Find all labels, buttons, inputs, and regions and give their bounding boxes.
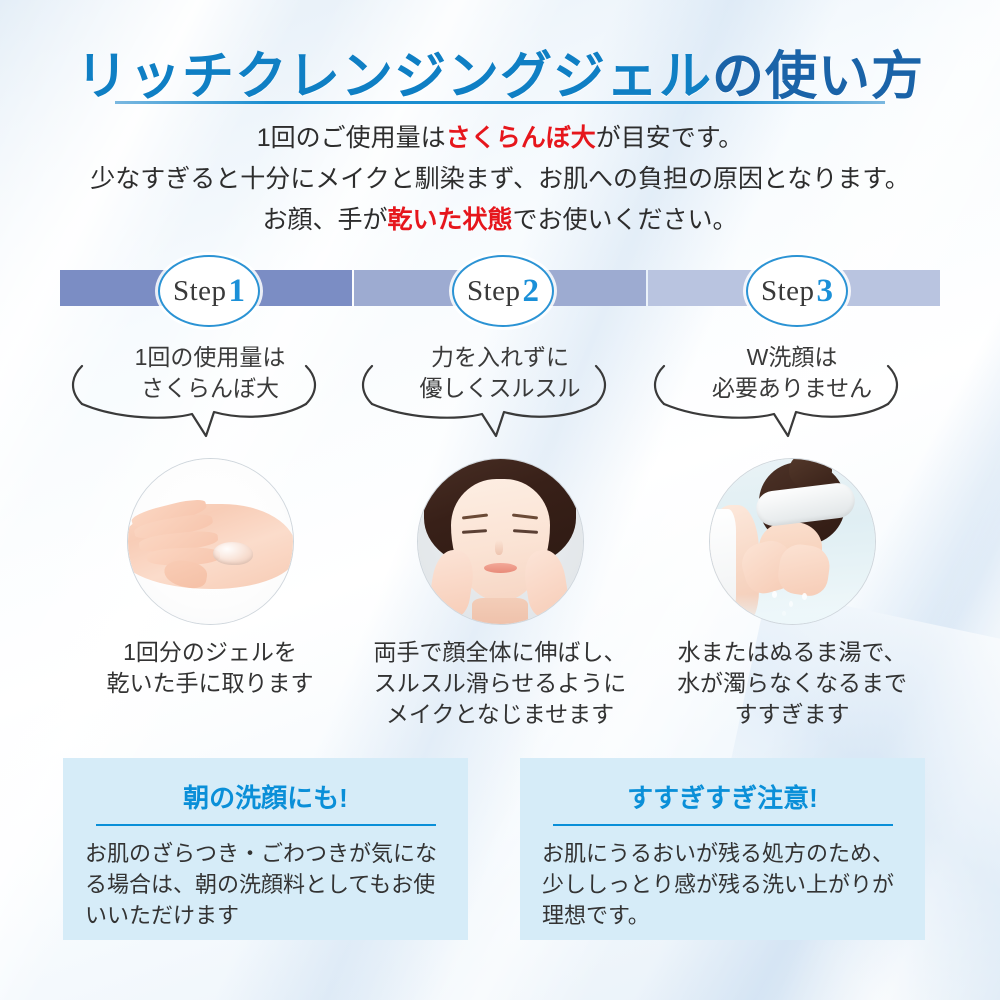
step-badge-2: Step2: [452, 255, 554, 327]
step-2-caption-line-3: メイクとなじませます: [340, 699, 660, 730]
info-box-2-divider: [553, 824, 893, 826]
step-badge-3-word: Step: [761, 275, 815, 308]
step-2-caption-line-2: スルスル滑らせるように: [340, 668, 660, 699]
step-1-bubble-line-1: 1回の使用量は: [60, 342, 360, 373]
step-1-speech-bubble: 1回の使用量は さくらんぼ大: [60, 336, 360, 444]
step-2-bubble-line-2: 優しくスルスル: [350, 373, 650, 404]
woman-rinsing-face-photo: [709, 458, 876, 625]
page-title-tail: の使い方: [712, 49, 924, 106]
step-1-caption-line-2: 乾いた手に取ります: [50, 668, 370, 699]
step-badge-3-number: 3: [817, 273, 834, 310]
info-box-2-heading: すすぎすぎ注意!: [520, 778, 925, 815]
lead-line-1-b: が目安です。: [596, 124, 744, 152]
info-box-1-body: お肌のざらつき・ごわつきが気になる場合は、朝の洗顔料としてもお使いいただけます: [85, 838, 446, 931]
step-badge-3: Step3: [746, 255, 848, 327]
info-box-2-body: お肌にうるおいが残る処方のため、少ししっとり感が残る洗い上がりが理想です。: [542, 838, 903, 931]
step-1-caption-line-1: 1回分のジェルを: [50, 637, 370, 668]
step-column-1: 1回の使用量は さくらんぼ大 1回分のジェルを 乾いた手に取ります: [50, 336, 370, 699]
step-2-speech-bubble: 力を入れずに 優しくスルスル: [350, 336, 650, 444]
lead-line-1: 1回のご使用量はさくらんぼ大が目安です。: [0, 118, 1000, 159]
step-badge-1-number: 1: [229, 273, 246, 310]
step-badge-1-word: Step: [173, 275, 227, 308]
step-badge-1: Step1: [158, 255, 260, 327]
page-title-main: リッチクレンジングジェル: [76, 49, 712, 106]
info-box-1-divider: [96, 824, 436, 826]
lead-line-1-highlight: さくらんぼ大: [446, 124, 596, 152]
step-badge-2-word: Step: [467, 275, 521, 308]
step-3-bubble-text: W洗顔は 必要ありません: [642, 342, 942, 404]
info-box-rinse-caution: すすぎすぎ注意! お肌にうるおいが残る処方のため、少ししっとり感が残る洗い上がり…: [520, 758, 925, 940]
step-1-caption: 1回分のジェルを 乾いた手に取ります: [50, 637, 370, 699]
step-3-speech-bubble: W洗顔は 必要ありません: [642, 336, 942, 444]
info-box-1-heading: 朝の洗顔にも!: [63, 778, 468, 815]
lead-line-3-highlight: 乾いた状態: [387, 206, 512, 234]
step-3-bubble-line-1: W洗顔は: [642, 342, 942, 373]
lead-paragraph: 1回のご使用量はさくらんぼ大が目安です。 少なすぎると十分にメイクと馴染まず、お…: [0, 118, 1000, 241]
step-3-caption-line-1: 水またはぬるま湯で、: [632, 637, 952, 668]
lead-line-1-a: 1回のご使用量は: [257, 124, 446, 152]
step-badge-2-number: 2: [523, 273, 540, 310]
step-1-bubble-text: 1回の使用量は さくらんぼ大: [60, 342, 360, 404]
step-2-bubble-line-1: 力を入れずに: [350, 342, 650, 373]
step-3-caption-line-3: すすぎます: [632, 699, 952, 730]
page-title: リッチクレンジングジェルの使い方: [0, 34, 1000, 109]
step-2-caption: 両手で顔全体に伸ばし、 スルスル滑らせるように メイクとなじませます: [340, 637, 660, 730]
instruction-infographic: リッチクレンジングジェルの使い方 1回のご使用量はさくらんぼ大が目安です。 少な…: [0, 0, 1000, 1000]
step-3-caption-line-2: 水が濁らなくなるまで: [632, 668, 952, 699]
step-1-bubble-line-2: さくらんぼ大: [60, 373, 360, 404]
step-column-3: W洗顔は 必要ありません: [632, 336, 952, 730]
lead-line-3-a: お顔、手が: [262, 206, 387, 234]
lead-line-3: お顔、手が乾いた状態でお使いください。: [0, 200, 1000, 241]
step-2-caption-line-1: 両手で顔全体に伸ばし、: [340, 637, 660, 668]
step-2-bubble-text: 力を入れずに 優しくスルスル: [350, 342, 650, 404]
step-3-caption: 水またはぬるま湯で、 水が濁らなくなるまで すすぎます: [632, 637, 952, 730]
step-3-bubble-line-2: 必要ありません: [642, 373, 942, 404]
palm-with-gel-photo: [127, 458, 294, 625]
info-box-morning-wash: 朝の洗顔にも! お肌のざらつき・ごわつきが気になる場合は、朝の洗顔料としてもお使…: [63, 758, 468, 940]
lead-line-2: 少なすぎると十分にメイクと馴染まず、お肌への負担の原因となります。: [0, 159, 1000, 200]
woman-face-massage-photo: [417, 458, 584, 625]
step-column-2: 力を入れずに 優しくスルスル 両手で: [340, 336, 660, 730]
title-underline-rule: [115, 101, 885, 104]
lead-line-3-b: でお使いください。: [513, 206, 738, 234]
